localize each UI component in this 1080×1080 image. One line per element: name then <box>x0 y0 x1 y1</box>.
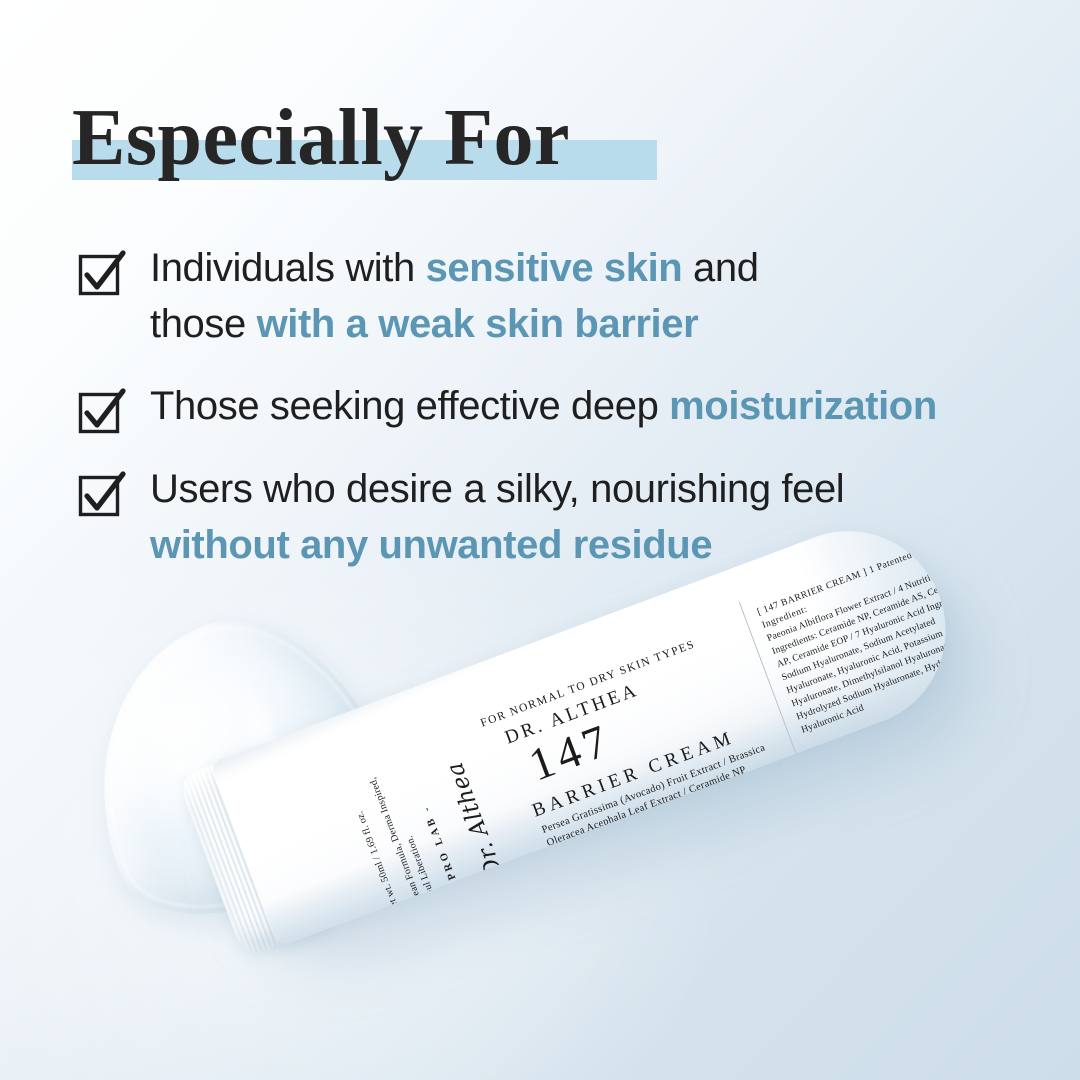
headline-block: Especially For <box>72 88 570 194</box>
text-part: Those seeking effective deep <box>150 384 669 428</box>
promo-graphic: Especially For Individuals with sensitiv… <box>0 0 1080 1080</box>
emphasis-text: sensitive skin <box>426 246 683 290</box>
text-part: those <box>150 302 257 346</box>
page-title: Especially For <box>72 88 570 188</box>
emphasis-text: with a weak skin barrier <box>257 302 699 346</box>
list-item: Those seeking effective deep moisturizat… <box>78 378 1038 435</box>
text-part: Users who desire a silky, nourishing fee… <box>150 467 844 511</box>
list-item-text: Those seeking effective deep moisturizat… <box>150 378 937 434</box>
list-item-line2: those with a weak skin barrier <box>150 296 759 352</box>
text-part: Individuals with <box>150 246 426 290</box>
checkbox-checked-icon <box>78 389 124 435</box>
text-part: and <box>682 246 758 290</box>
list-item-text: Individuals with sensitive skin and thos… <box>150 240 759 352</box>
list-item: Individuals with sensitive skin and thos… <box>78 240 1038 352</box>
checkbox-checked-icon <box>78 472 124 518</box>
checkbox-checked-icon <box>78 251 124 297</box>
emphasis-text: moisturization <box>669 384 937 428</box>
